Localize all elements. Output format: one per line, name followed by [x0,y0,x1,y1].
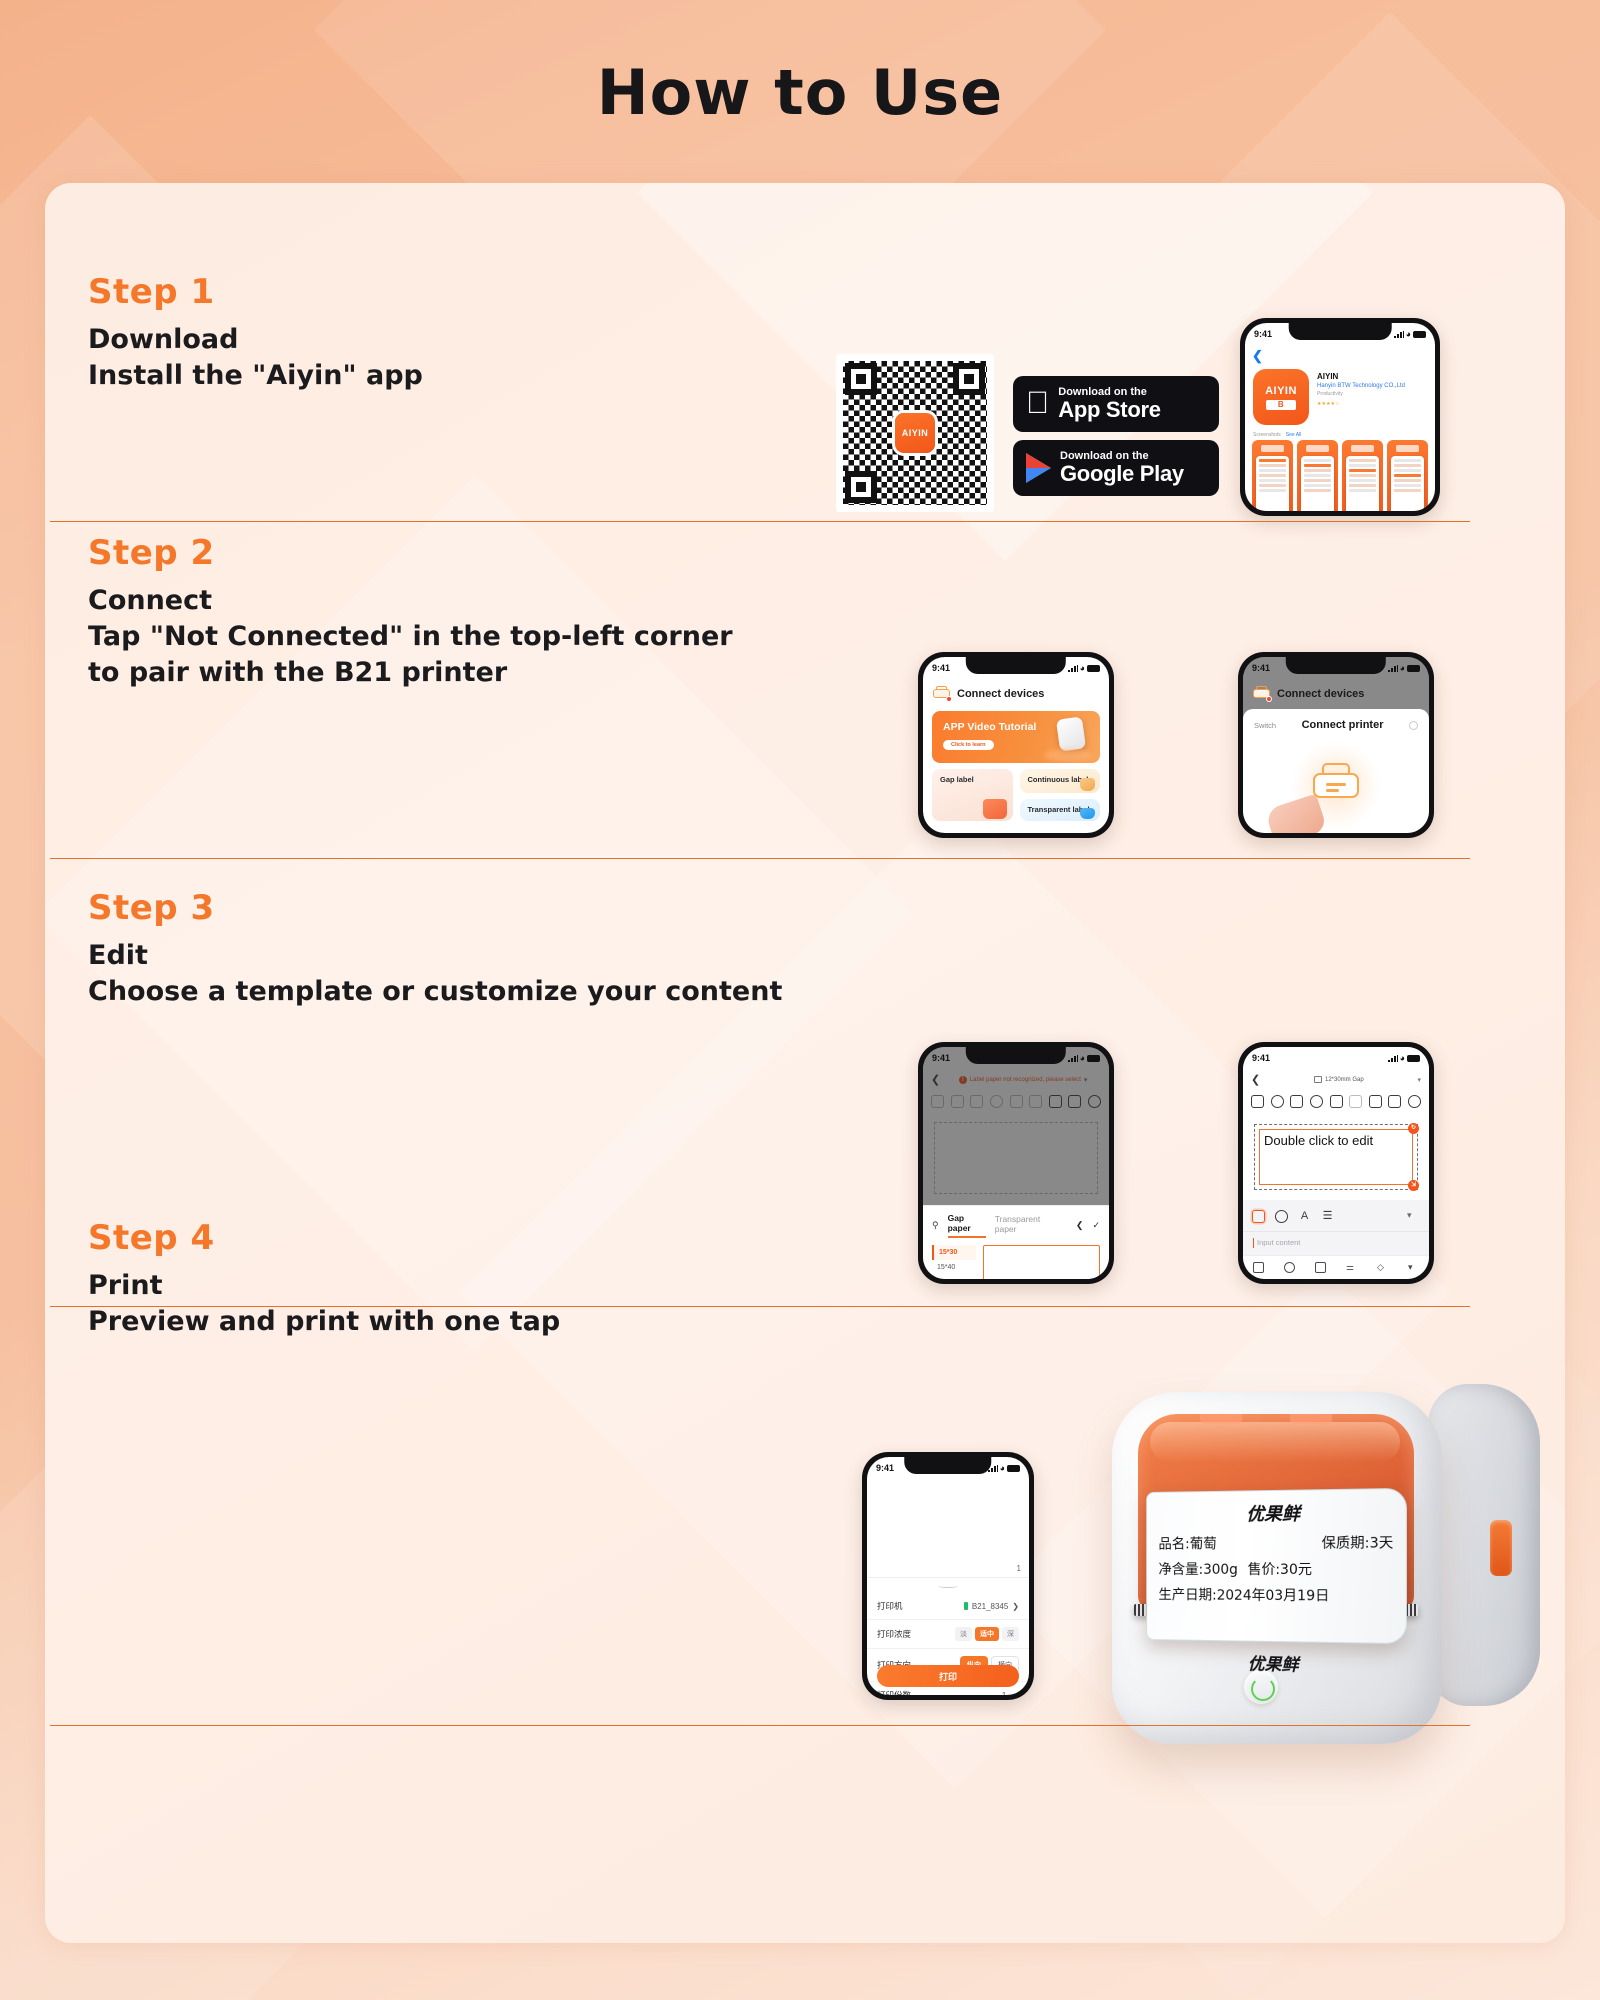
wifi-icon: ◕ [1406,330,1411,339]
step-4-phone-print-settings: 9:41 ◕ 1 打印机 B21_8345 ❯ 打印 [862,1452,1034,1700]
status-time: 9:41 [932,1053,950,1063]
step-3-label: Step 3 [88,888,782,928]
back-chevron-icon[interactable]: ❮ [1245,345,1435,367]
editor-top-bar: ❮ 12*30mm Gap ▾ [1243,1069,1429,1089]
label-type-tiles: Gap label Continuous label Transparent l… [923,767,1109,823]
app-store-badge[interactable]:  Download on the App Store [1013,376,1219,432]
content-input[interactable]: Input content [1243,1231,1429,1253]
printer-product-image [1056,716,1086,751]
chevron-down-icon[interactable]: ▾ [1408,1262,1419,1273]
google-play-badge[interactable]: Download on the Google Play [1013,440,1219,496]
align-icon[interactable] [1290,1095,1303,1108]
paper-size-list[interactable]: 15*30 15*40 [932,1245,976,1279]
chevron-down-icon[interactable]: ▾ [1417,1076,1421,1084]
battery-icon [1407,665,1420,672]
paper-icon [1314,1076,1322,1083]
content-input-placeholder: Input content [1257,1238,1300,1247]
size-option[interactable]: 15*40 [932,1260,976,1275]
qr-finder-icon [953,363,985,395]
chevron-right-icon: ❯ [1012,1602,1019,1611]
size-option-selected[interactable]: 15*30 [932,1245,976,1260]
label-roll-icon [1080,808,1095,819]
print-button[interactable]: 打印 [877,1665,1019,1687]
undo-icon[interactable] [1330,1095,1343,1108]
align-tool-icon[interactable]: ☰ [1321,1210,1334,1223]
lock-icon[interactable] [1310,1095,1323,1108]
step-2-detail-line-2: to pair with the B21 printer [88,655,733,691]
image-icon[interactable] [1315,1262,1326,1273]
battery-icon [1087,1055,1100,1062]
print-preview-area: 1 [867,1479,1029,1577]
power-ring-icon[interactable] [1244,1670,1278,1704]
status-bar: 9:41 ◕ [923,657,1109,679]
setting-label-copies: 打印份数 [877,1689,911,1695]
step-1-phone-appstore: 9:41 ◕ ❮ AIYIN B AIYIN Hanyin BTW Techno… [1240,318,1440,516]
screenshot-carousel[interactable] [1245,440,1435,511]
connect-devices-header[interactable]: Connect devices [1243,679,1429,707]
status-time: 9:41 [876,1463,894,1473]
signal-icon [988,1465,998,1472]
paper-picker-sheet: ⚲ Gap paper Transparent paper ❮ ✓ 15*30 … [923,1205,1109,1279]
rotate-handle-icon[interactable]: ↻ [1408,1123,1419,1134]
collapse-icon[interactable]: ❮ [1076,1220,1084,1231]
status-time: 9:41 [1252,1053,1270,1063]
tile-transparent-label[interactable]: Transparent label [1020,799,1101,821]
b21-printer-product: 优果鲜 品名:葡萄 保质期:3天 净含量:300g 售价:30元 生产日期:20… [1098,1370,1498,1780]
rating-stars-icon: ★★★★☆ [1317,401,1427,407]
text-box-content[interactable]: Double click to edit [1259,1129,1413,1185]
printer-icon [1253,686,1270,701]
app-title: AIYIN [1317,372,1427,381]
printer-icon [933,686,950,701]
layers-icon[interactable] [1271,1095,1284,1108]
app-developer: Hanyin BTW Technology CO.,Ltd [1317,383,1427,389]
how-to-use-page: How to Use Step 1 Download Install the "… [0,0,1600,2000]
step-4-text: Step 4 Print Preview and print with one … [88,1218,560,1340]
wifi-icon: ◕ [1400,664,1405,673]
printed-label: 优果鲜 品名:葡萄 保质期:3天 净含量:300g 售价:30元 生产日期:20… [1146,1488,1407,1644]
signal-icon [1068,665,1078,672]
increment-button[interactable]: + [1014,1691,1019,1696]
text-cursor [1253,1238,1254,1248]
app-category: Productivity [1317,391,1427,397]
step-4-divider [50,1725,1470,1726]
editor-toolbar [1243,1089,1429,1114]
step-3-phone-text-editor: 9:41 ◕ ❮ 12*30mm Gap ▾ [1238,1042,1434,1284]
setting-row-density[interactable]: 打印浓度 淡 适中 深 [867,1620,1029,1649]
barcode-icon[interactable]: ⚌ [1346,1262,1357,1273]
screenshot-item[interactable] [1342,440,1383,511]
copies-stepper[interactable]: − 1 + [989,1691,1019,1696]
step-4-label: Step 4 [88,1218,560,1258]
setting-label-density: 打印浓度 [877,1628,911,1640]
step-2-text: Step 2 Connect Tap "Not Connected" in th… [88,533,733,691]
step-2-detail-line-1: Tap "Not Connected" in the top-left corn… [88,619,733,655]
printer-side-button[interactable] [1490,1520,1512,1576]
more-icon[interactable] [1408,1095,1421,1108]
paper-size-chip[interactable]: 12*30mm Gap [1265,1076,1412,1083]
battery-icon [1413,331,1426,338]
label-row-1: 品名:葡萄 保质期:3天 [1158,1532,1393,1553]
chevron-down-icon[interactable]: ▾ [1407,1210,1420,1223]
setting-value-printer: B21_8345 [972,1602,1008,1611]
app-icon-text: AIYIN [1265,385,1297,397]
google-play-badge-big: Google Play [1060,462,1184,485]
app-store-badge-big: App Store [1058,398,1160,421]
step-1-label: Step 1 [88,272,423,312]
editor-bottom-bar: ⚌ ◇ ▾ [1243,1255,1429,1279]
text-tool-icon[interactable] [1252,1210,1265,1223]
wifi-icon: ◕ [1080,1054,1085,1063]
tile-gap-label[interactable]: Gap label [932,769,1013,821]
step-2-divider [50,858,1470,859]
status-bar: 9:41 ◕ [1243,657,1429,679]
qr-logo: AIYIN [895,413,935,453]
paper-size-text: 12*30mm Gap [1325,1077,1364,1083]
app-icon-sub: B [1266,400,1296,410]
tab-transparent-paper[interactable]: Transparent paper [995,1214,1058,1237]
step-1-heading: Download [88,322,423,358]
step-3-text: Step 3 Edit Choose a template or customi… [88,888,782,1010]
status-bar: 9:41 ◕ [1245,323,1435,345]
product-shadow [1044,749,1092,761]
screenshot-item[interactable] [1387,440,1428,511]
refresh-icon[interactable] [1409,721,1418,730]
label-roll-icon [983,799,1007,819]
signal-icon [1394,331,1404,338]
status-time: 9:41 [932,663,950,673]
label-shelf-life: 保质期:3天 [1322,1532,1394,1553]
screenshot-item[interactable] [1252,440,1293,511]
step-3-phone-paper-chooser: 9:41 ◕ ❮ ! Label paper not recognized, p… [918,1042,1114,1284]
decrement-button[interactable]: − [989,1691,994,1696]
google-play-icon [1026,453,1051,483]
search-icon[interactable]: ⚲ [932,1220,939,1231]
setting-label-printer: 打印机 [877,1600,903,1612]
qr-pattern: AIYIN [843,361,987,505]
step-2-phone-connect-devices: 9:41 ◕ Connect devices APP Video Tutoria… [918,652,1114,838]
preview-page-number: 1 [1017,1564,1021,1573]
density-option-light[interactable]: 淡 [955,1627,972,1641]
connect-printer-sheet: Switch Connect printer [1243,709,1429,833]
resize-handle-icon[interactable]: ⇲ [1408,1180,1419,1191]
tab-gap-paper[interactable]: Gap paper [948,1213,986,1238]
redo-icon[interactable] [1349,1095,1362,1108]
qr-code[interactable]: AIYIN [836,354,994,512]
step-4-detail: Preview and print with one tap [88,1304,560,1340]
screenshots-see-all-link[interactable]: See All [1286,432,1302,438]
delete-icon[interactable] [1251,1095,1264,1108]
wifi-icon: ◕ [1080,664,1085,673]
step-1-divider [50,521,1470,522]
text-icon[interactable] [1253,1262,1264,1273]
setting-row-printer[interactable]: 打印机 B21_8345 ❯ [867,1593,1029,1620]
signal-icon [1388,1055,1398,1062]
status-time: 9:41 [1252,663,1270,673]
label-product-name: 品名:葡萄 [1158,1533,1216,1553]
label-production-date: 生产日期:2024年03月19日 [1158,1585,1329,1606]
tile-gap-label-text: Gap label [940,776,1005,785]
copy-icon[interactable] [1369,1095,1382,1108]
sheet-grabber[interactable] [867,1577,1029,1593]
label-title: 优果鲜 [1158,1498,1393,1527]
editor-canvas[interactable]: Double click to edit ↻ ⇲ [1243,1114,1429,1200]
screenshots-label: Screenshots [1253,432,1281,438]
status-bar: 9:41 ◕ [923,1047,1109,1069]
printer-icon [1313,763,1359,803]
signal-icon [1068,1055,1078,1062]
connect-devices-title: Connect devices [957,688,1044,700]
step-2-phone-connect-printer: 9:41 ◕ Connect devices Switch Connect pr… [1238,652,1434,838]
step-1-text: Step 1 Download Install the "Aiyin" app [88,272,423,394]
bluetooth-status-icon [964,1602,968,1610]
shape-tool-icon[interactable] [1275,1210,1288,1223]
battery-icon [1407,1055,1420,1062]
battery-icon [1087,665,1100,672]
tile-continuous-label[interactable]: Continuous label [1020,769,1101,793]
text-format-toolbar: A ☰ ▾ [1243,1205,1429,1227]
app-icon: AIYIN B [1253,369,1309,425]
label-net-weight: 净含量:300g [1158,1559,1237,1579]
banner-cta-pill[interactable]: Click to learn [943,740,994,750]
step-4-heading: Print [88,1268,560,1304]
battery-icon [1007,1465,1020,1472]
video-tutorial-banner[interactable]: APP Video Tutorial Click to learn [932,711,1100,763]
back-chevron-icon[interactable]: ❮ [1251,1073,1260,1086]
step-1-detail: Install the "Aiyin" app [88,358,423,394]
density-option-medium[interactable]: 适中 [975,1627,999,1641]
page-title: How to Use [0,56,1600,129]
label-row-3: 生产日期:2024年03月19日 [1158,1585,1393,1606]
status-bar: 9:41 ◕ [867,1457,1029,1479]
step-3-heading: Edit [88,938,782,974]
connect-devices-header[interactable]: Connect devices [923,679,1109,707]
density-segmented-control[interactable]: 淡 适中 深 [955,1627,1019,1641]
time-icon[interactable] [1284,1262,1295,1273]
font-tool-icon[interactable]: A [1298,1210,1311,1223]
editor-dim-overlay [923,1047,1109,1205]
qr-finder-icon [845,363,877,395]
wifi-icon: ◕ [1400,1054,1405,1063]
screenshot-item[interactable] [1297,440,1338,511]
density-option-dark[interactable]: 深 [1002,1627,1019,1641]
step-2-label: Step 2 [88,533,733,573]
label-preview [983,1245,1100,1279]
template-icon[interactable] [1388,1095,1401,1108]
qr-finder-icon [845,471,877,503]
status-time: 9:41 [1254,329,1272,339]
switch-link[interactable]: Switch [1254,721,1276,730]
selected-text-box[interactable]: Double click to edit ↻ ⇲ [1254,1124,1418,1190]
status-bar: 9:41 ◕ [1243,1047,1429,1069]
wifi-icon: ◕ [1000,1464,1005,1473]
step-3-detail: Choose a template or customize your cont… [88,974,782,1010]
connect-devices-title: Connect devices [1277,688,1364,700]
label-price: 售价:30元 [1248,1559,1312,1579]
copies-value: 1 [1002,1691,1006,1696]
confirm-check-icon[interactable]: ✓ [1092,1220,1100,1231]
signal-icon [1388,665,1398,672]
connect-printer-title: Connect printer [1302,719,1384,731]
apple-icon:  [1026,387,1049,418]
printer-right-body [1428,1384,1540,1706]
step-2-heading: Connect [88,583,733,619]
label-row-2: 净含量:300g 售价:30元 [1158,1559,1393,1580]
shape-icon[interactable]: ◇ [1377,1262,1388,1273]
label-roll-icon [1080,778,1095,791]
